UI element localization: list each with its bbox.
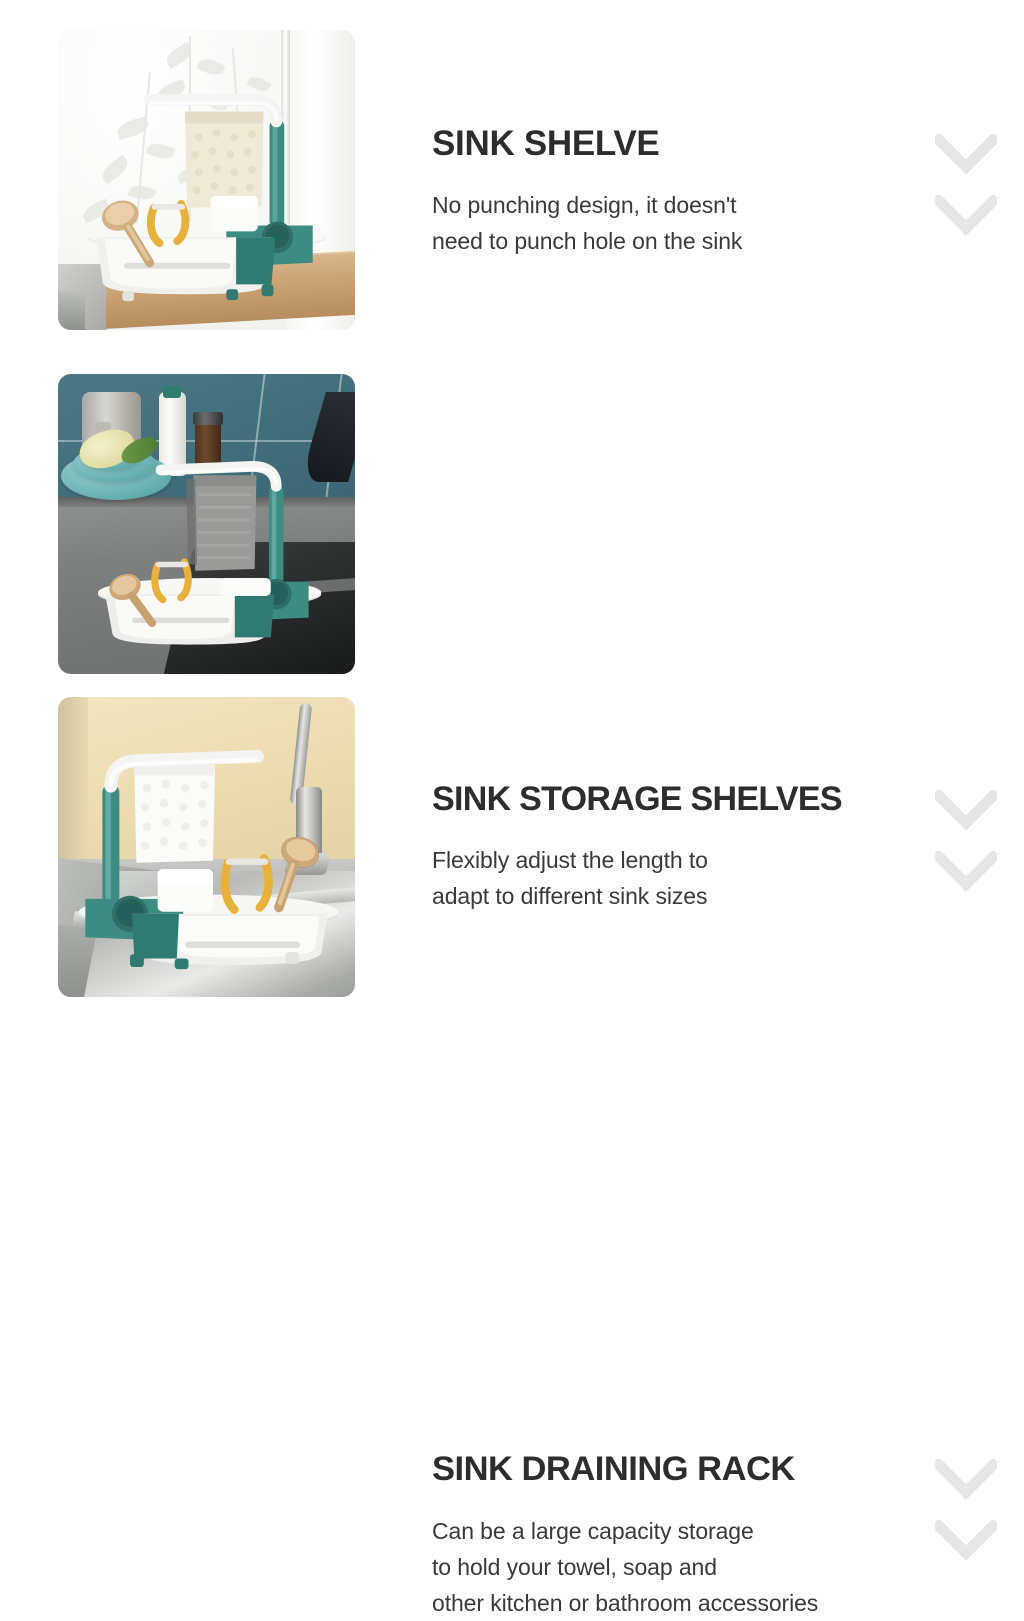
- chevron-down-icon: [935, 134, 997, 176]
- feature-text-block: SINK DRAINING RACK Can be a large capaci…: [432, 1452, 932, 1621]
- feature-row: SINK DRAINING RACK Can be a large capaci…: [0, 697, 1024, 997]
- chevron-down-icon: [935, 195, 997, 237]
- feature-description-line: Can be a large capacity storage: [432, 1513, 932, 1549]
- feature-title: SINK SHELVE: [432, 126, 932, 161]
- sink-draining-rack-stainless-photo: [58, 697, 355, 997]
- feature-description-line: No punching design, it doesn't: [432, 187, 932, 223]
- feature-description: Can be a large capacity storage to hold …: [432, 1513, 932, 1621]
- chevron-down-icon: [935, 1520, 997, 1562]
- feature-row: SINK STORAGE SHELVES Flexibly adjust the…: [0, 374, 1024, 674]
- feature-title: SINK DRAINING RACK: [432, 1452, 932, 1487]
- sink-shelve-window-photo: [58, 30, 355, 330]
- feature-description-line: other kitchen or bathroom accessories: [432, 1585, 932, 1621]
- chevron-group: [935, 1459, 1001, 1581]
- feature-description-line: to hold your towel, soap and: [432, 1549, 932, 1585]
- chevron-down-icon: [935, 1459, 997, 1501]
- feature-row: SINK SHELVE No punching design, it doesn…: [0, 30, 1024, 330]
- sink-storage-shelves-kitchen-photo: [58, 374, 355, 674]
- feature-description: No punching design, it doesn't need to p…: [432, 187, 932, 260]
- product-sink-caddy: [73, 452, 346, 650]
- infographic-page: SINK SHELVE No punching design, it doesn…: [0, 0, 1024, 1024]
- chevron-group: [935, 134, 1001, 256]
- feature-description-line: need to punch hole on the sink: [432, 223, 932, 259]
- product-sink-caddy: [76, 90, 337, 306]
- feature-text-block: SINK SHELVE No punching design, it doesn…: [432, 126, 932, 260]
- product-sink-caddy: [67, 733, 346, 967]
